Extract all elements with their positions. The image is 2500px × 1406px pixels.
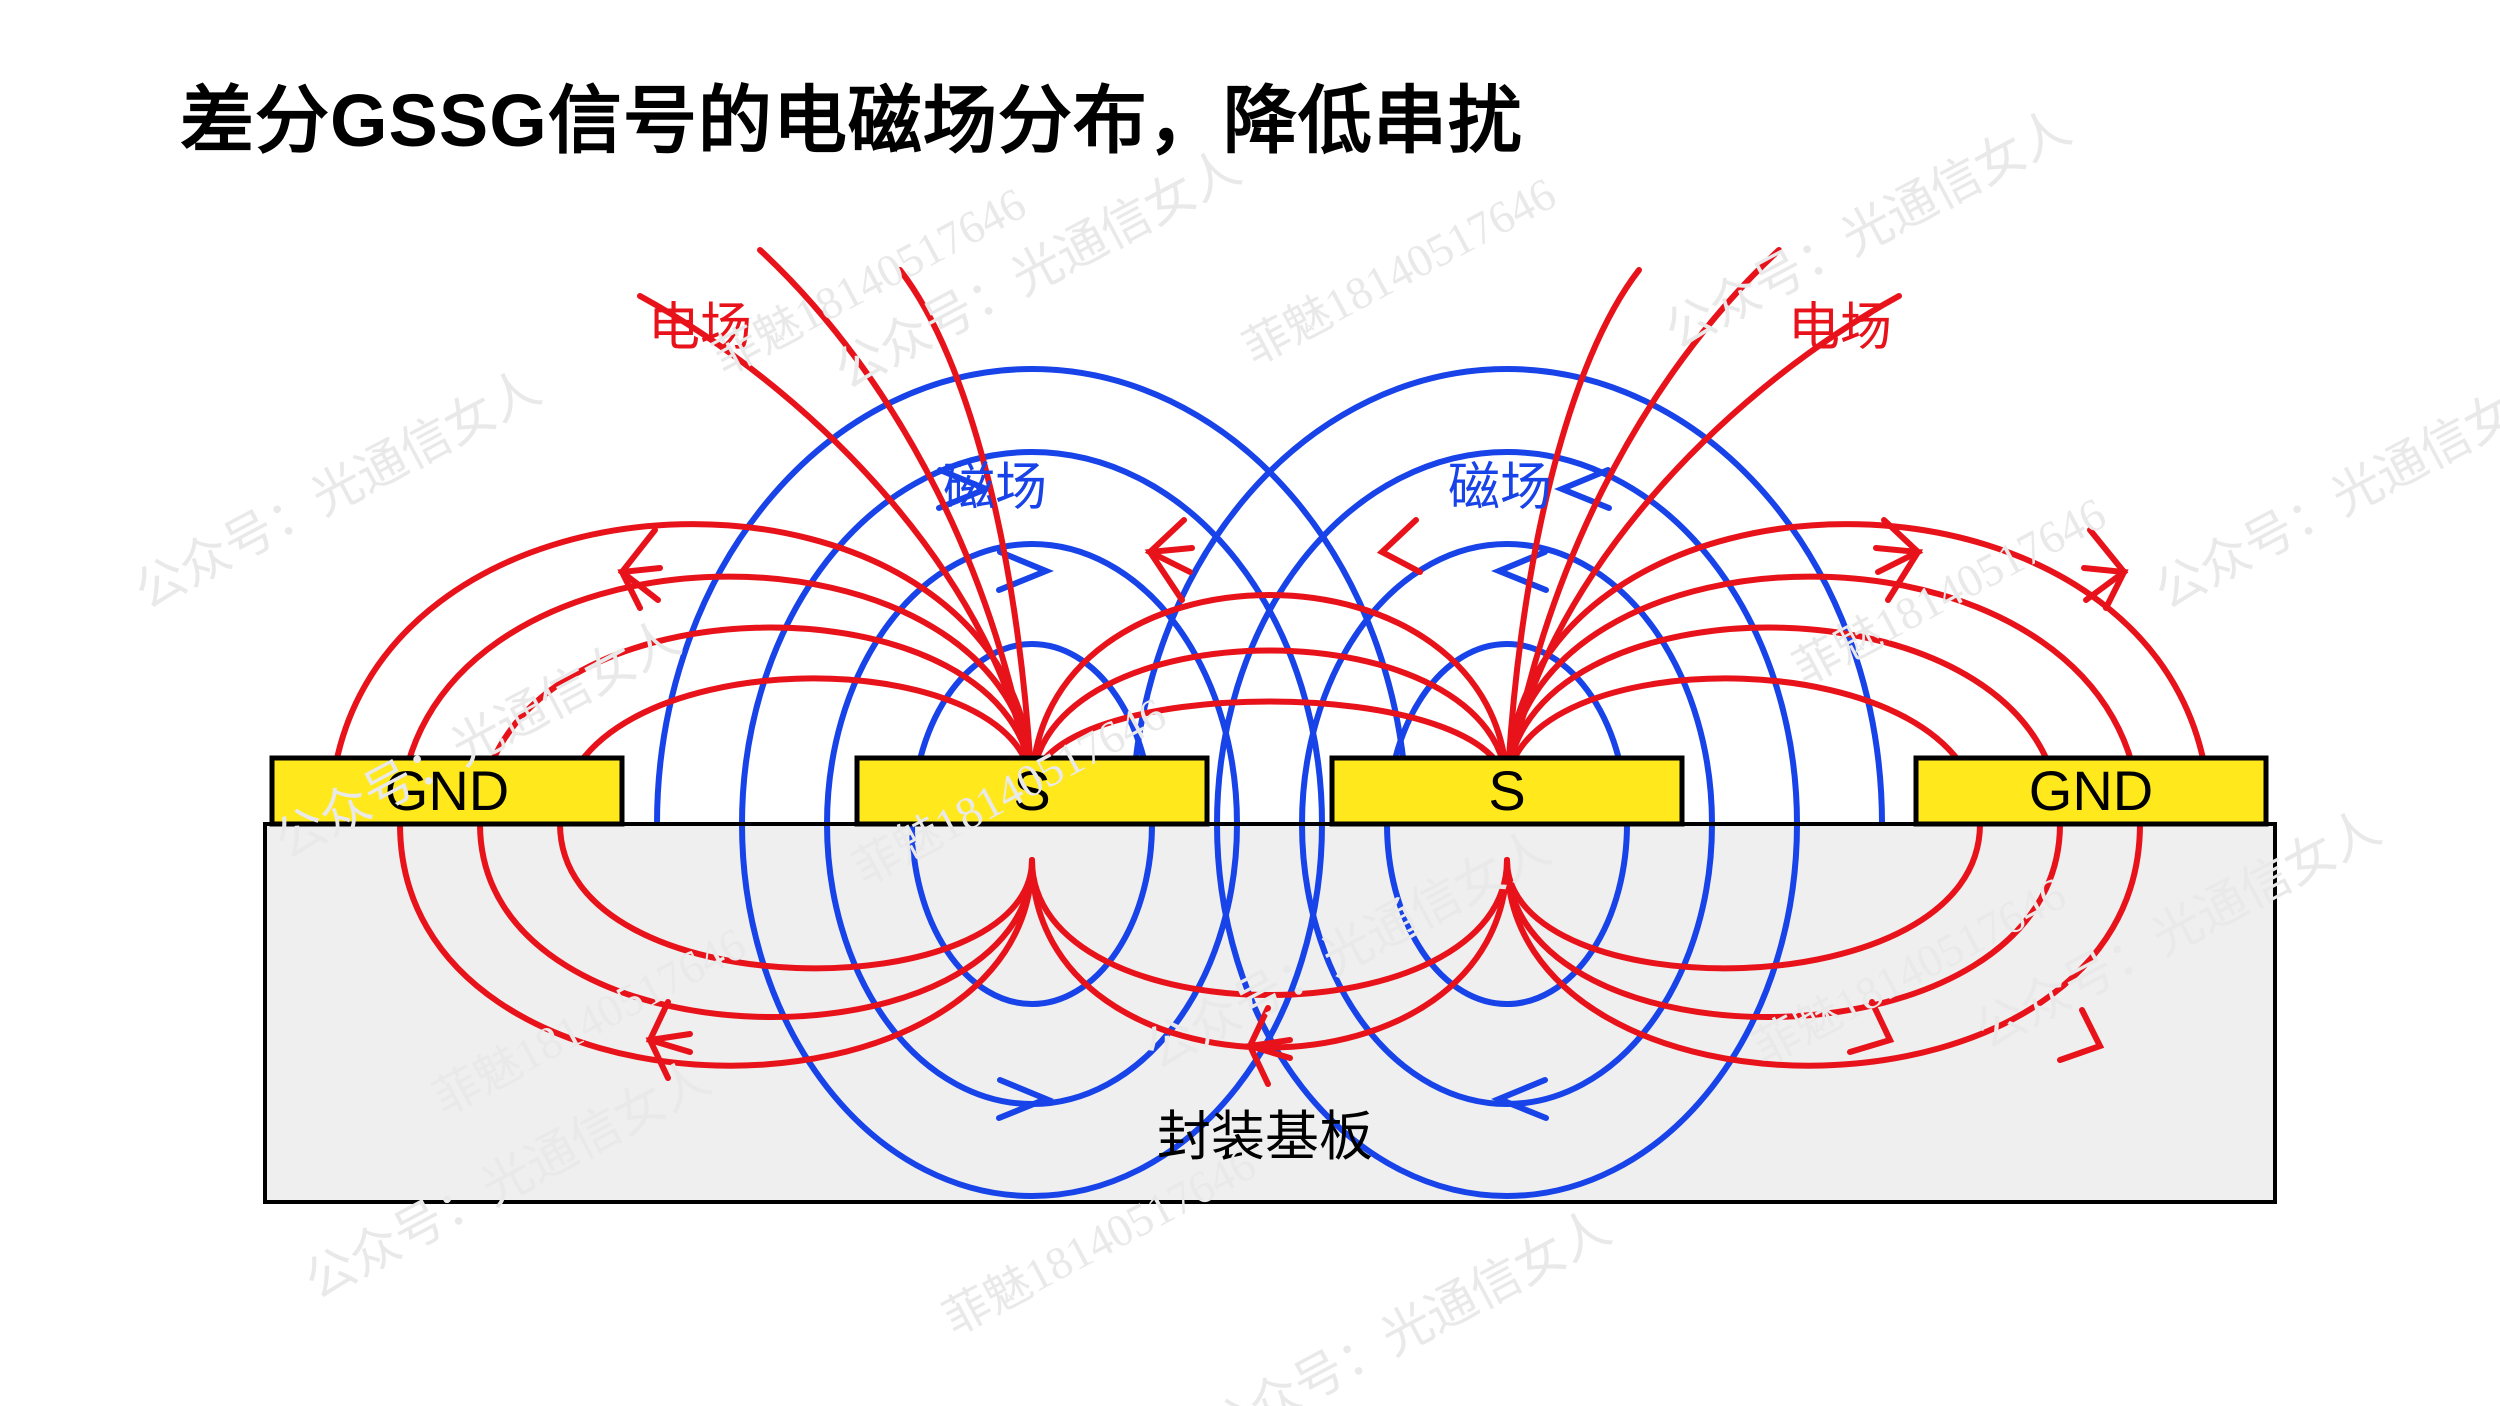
pad-gnd-left[interactable]: GND — [272, 758, 622, 824]
slide-canvas: GND S S GND 电场 电场 磁场 磁场 封装基板 差分GSSG信号的电磁… — [0, 0, 2500, 1406]
label-electric-field-right: 电场 — [1788, 299, 1892, 357]
pad-gnd-right[interactable]: GND — [1916, 758, 2266, 824]
label-electric-field-left: 电场 — [648, 299, 752, 357]
pad-gnd-left-label: GND — [385, 759, 509, 822]
pad-signal-left-label: S — [1013, 759, 1050, 822]
pad-gnd-right-label: GND — [2029, 759, 2153, 822]
pad-signal-left[interactable]: S — [857, 758, 1207, 824]
conductor-pads: GND S S GND — [272, 758, 2266, 824]
page-title: 差分GSSG信号的电磁场分布，降低串扰 — [180, 82, 1980, 160]
label-substrate: 封装基板 — [1157, 1107, 1373, 1167]
label-magnetic-field-left: 磁场 — [943, 459, 1047, 517]
gssg-field-diagram: GND S S GND 电场 电场 磁场 磁场 封装基板 — [0, 0, 2500, 1406]
label-magnetic-field-right: 磁场 — [1448, 459, 1552, 517]
pad-signal-right-label: S — [1488, 759, 1525, 822]
pad-signal-right[interactable]: S — [1332, 758, 1682, 824]
